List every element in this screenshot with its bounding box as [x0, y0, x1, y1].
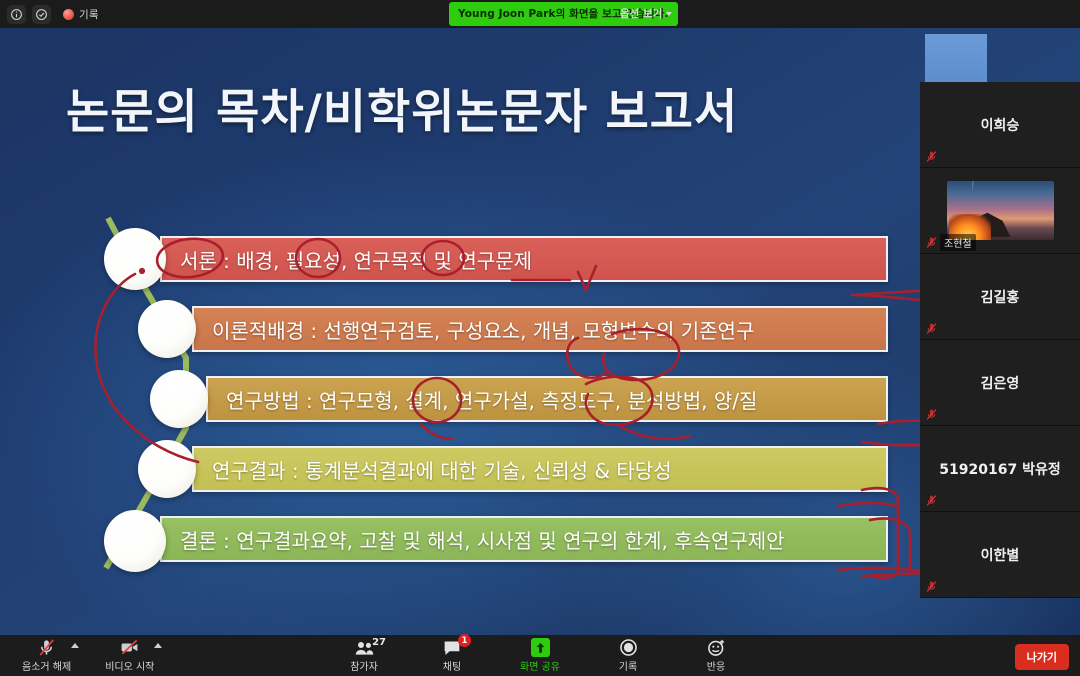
reactions-label: 반응: [707, 658, 725, 673]
slide-bar-text: 결론 : 연구결과요약, 고찰 및 해석, 시사점 및 연구의 한계, 후속연구…: [162, 525, 785, 554]
slide-bar: 서론 : 배경, 필요성, 연구목적 및 연구문제: [160, 236, 888, 282]
record-button[interactable]: 기록: [600, 635, 656, 676]
record-label: 기록: [619, 658, 637, 673]
slide-bar-row: 연구방법 : 연구모형, 설계, 연구가설, 측정도구, 분석방법, 양/질: [206, 376, 888, 422]
self-video-tile[interactable]: [925, 34, 987, 89]
participant-tile[interactable]: 김은영: [920, 340, 1080, 426]
shared-screen-slide: 논문의 목차/비학위논문자 보고서 서론 : 배경, 필요성, 연구목적 및 연…: [0, 28, 1080, 635]
chevron-down-icon: [666, 12, 672, 16]
chevron-up-icon[interactable]: [71, 643, 79, 648]
slide-bar-row: 결론 : 연구결과요약, 고찰 및 해석, 시사점 및 연구의 한계, 후속연구…: [160, 516, 888, 562]
meeting-top-bar: 기록 Young Joon Park의 화면을 보고 있습니다. 옵션 보기: [0, 0, 1080, 28]
record-dot-icon: [63, 9, 74, 20]
share-screen-label: 화면 공유: [520, 658, 560, 673]
video-muted-icon: [119, 638, 140, 657]
mic-muted-icon: [925, 236, 938, 249]
participants-icon: 27: [354, 638, 375, 657]
start-video-label: 비디오 시작: [105, 658, 154, 673]
mic-muted-icon: [925, 322, 938, 335]
participant-name: 이희승: [981, 115, 1020, 135]
participant-tile[interactable]: 51920167 박유정: [920, 426, 1080, 512]
participant-tile[interactable]: 조현철: [920, 168, 1080, 254]
chevron-up-icon[interactable]: [154, 643, 162, 648]
unmute-button[interactable]: 음소거 해제: [16, 635, 77, 676]
participants-label: 참가자: [350, 658, 378, 673]
leave-meeting-button[interactable]: 나가기: [1015, 644, 1069, 670]
participant-tile[interactable]: 이한별: [920, 512, 1080, 598]
slide-bar-text: 연구결과 : 통계분석결과에 대한 기술, 신뢰성 & 타당성: [194, 455, 672, 484]
mic-muted-icon: [925, 408, 938, 421]
participants-button[interactable]: 27 참가자: [336, 635, 392, 676]
reactions-button[interactable]: 반응: [688, 635, 744, 676]
recording-indicator[interactable]: 기록: [63, 7, 99, 22]
reactions-icon: [707, 638, 726, 657]
view-options-button[interactable]: 옵션 보기: [613, 2, 679, 26]
participant-tile[interactable]: 김길홍: [920, 254, 1080, 340]
view-options-label: 옵션 보기: [620, 6, 662, 21]
slide-bar: 연구결과 : 통계분석결과에 대한 기술, 신뢰성 & 타당성: [192, 446, 888, 492]
zoom-meeting-window: 기록 Young Joon Park의 화면을 보고 있습니다. 옵션 보기 논…: [0, 0, 1080, 676]
share-screen-button[interactable]: 화면 공유: [512, 635, 568, 676]
slide-bar-row: 연구결과 : 통계분석결과에 대한 기술, 신뢰성 & 타당성: [192, 446, 888, 492]
slide-bullet: [104, 228, 166, 290]
participant-list: 이희승 조현철 김길홍: [920, 82, 1080, 598]
chat-button[interactable]: 1 채팅: [424, 635, 480, 676]
info-icon[interactable]: [7, 5, 26, 24]
mic-muted-icon: [37, 638, 56, 657]
slide-bar-text: 이론적배경 : 선행연구검토, 구성요소, 개념, 모형변수의 기존연구: [194, 315, 754, 344]
slide-bar: 연구방법 : 연구모형, 설계, 연구가설, 측정도구, 분석방법, 양/질: [206, 376, 888, 422]
slide-bullet: [150, 370, 208, 428]
chat-icon: 1: [442, 638, 462, 657]
recording-label: 기록: [79, 7, 99, 22]
participant-video-thumbnail: [947, 181, 1054, 240]
participant-filmstrip: 이희승 조현철 김길홍: [920, 28, 1080, 635]
participant-name: 조현철: [940, 234, 976, 251]
slide-bullet: [138, 300, 196, 358]
slide-bar-row: 서론 : 배경, 필요성, 연구목적 및 연구문제: [160, 236, 888, 282]
share-screen-icon: [531, 638, 550, 657]
slide-bar: 이론적배경 : 선행연구검토, 구성요소, 개념, 모형변수의 기존연구: [192, 306, 888, 352]
participants-count: 27: [372, 637, 386, 648]
participant-name: 김길홍: [981, 287, 1020, 307]
mic-muted-icon: [925, 150, 938, 163]
participant-name: 51920167 박유정: [939, 459, 1060, 479]
slide-bar-text: 연구방법 : 연구모형, 설계, 연구가설, 측정도구, 분석방법, 양/질: [208, 385, 757, 414]
participant-name: 이한별: [981, 545, 1020, 565]
chat-badge: 1: [458, 634, 471, 647]
slide-bar-text: 서론 : 배경, 필요성, 연구목적 및 연구문제: [162, 245, 532, 274]
slide-bullet: [104, 510, 166, 572]
participant-tile[interactable]: 이희승: [920, 82, 1080, 168]
slide-bar: 결론 : 연구결과요약, 고찰 및 해석, 시사점 및 연구의 한계, 후속연구…: [160, 516, 888, 562]
slide-bar-list: 서론 : 배경, 필요성, 연구목적 및 연구문제 이론적배경 : 선행연구검토…: [0, 28, 1080, 635]
mic-muted-icon: [925, 580, 938, 593]
slide-bar-row: 이론적배경 : 선행연구검토, 구성요소, 개념, 모형변수의 기존연구: [192, 306, 888, 352]
chat-label: 채팅: [443, 658, 461, 673]
participant-name: 김은영: [981, 373, 1020, 393]
start-video-button[interactable]: 비디오 시작: [99, 635, 160, 676]
unmute-label: 음소거 해제: [22, 658, 71, 673]
encryption-shield-icon[interactable]: [32, 5, 51, 24]
record-icon: [619, 638, 638, 657]
slide-bullet: [138, 440, 196, 498]
mic-muted-icon: [925, 494, 938, 507]
meeting-controls-toolbar: 음소거 해제 비디오 시작: [0, 635, 1080, 676]
